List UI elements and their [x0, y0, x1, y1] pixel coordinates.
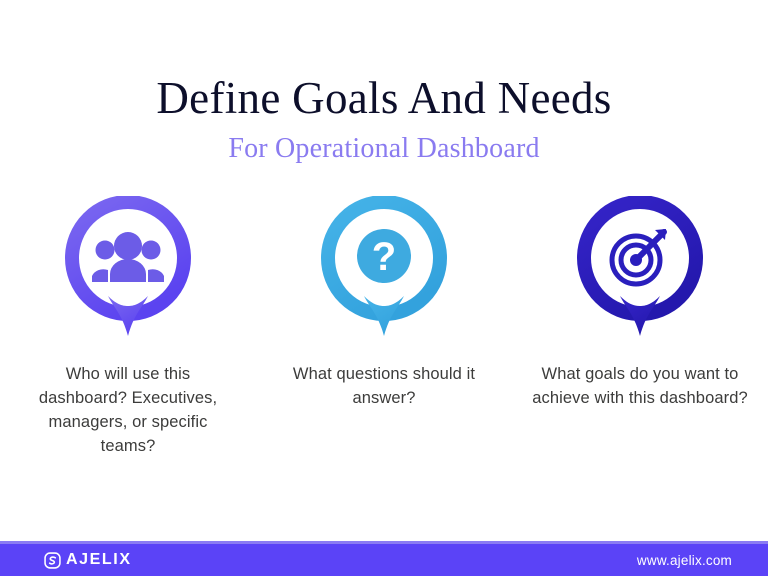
people-group-icon [92, 232, 164, 282]
pin-columns: Who will use this dashboard? Executives,… [0, 196, 768, 458]
pin-marker-1 [64, 196, 192, 344]
ajelix-swirl-logo-icon [44, 552, 61, 569]
column-questions: ? What questions should it answer? [256, 196, 512, 410]
brand-name: AJELIX [66, 551, 132, 569]
column-caption-2: What questions should it answer? [284, 362, 484, 410]
column-caption-3: What goals do you want to achieve with t… [525, 362, 755, 410]
slide-canvas: Define Goals And Needs For Operational D… [0, 0, 768, 576]
pin-marker-3 [576, 196, 704, 344]
footer-website-url[interactable]: www.ajelix.com [637, 553, 732, 568]
footer-bar: AJELIX www.ajelix.com [0, 541, 768, 576]
page-title: Define Goals And Needs [0, 72, 768, 124]
pin-marker-2: ? [320, 196, 448, 344]
question-mark-icon: ? [357, 229, 411, 283]
column-caption-1: Who will use this dashboard? Executives,… [23, 362, 233, 458]
page-subtitle: For Operational Dashboard [0, 132, 768, 166]
svg-text:?: ? [372, 235, 396, 279]
column-goals: What goals do you want to achieve with t… [512, 196, 768, 410]
column-audience: Who will use this dashboard? Executives,… [0, 196, 256, 458]
brand-logo[interactable]: AJELIX [44, 551, 132, 569]
target-arrow-icon [612, 229, 666, 284]
slide-header: Define Goals And Needs For Operational D… [0, 72, 768, 166]
